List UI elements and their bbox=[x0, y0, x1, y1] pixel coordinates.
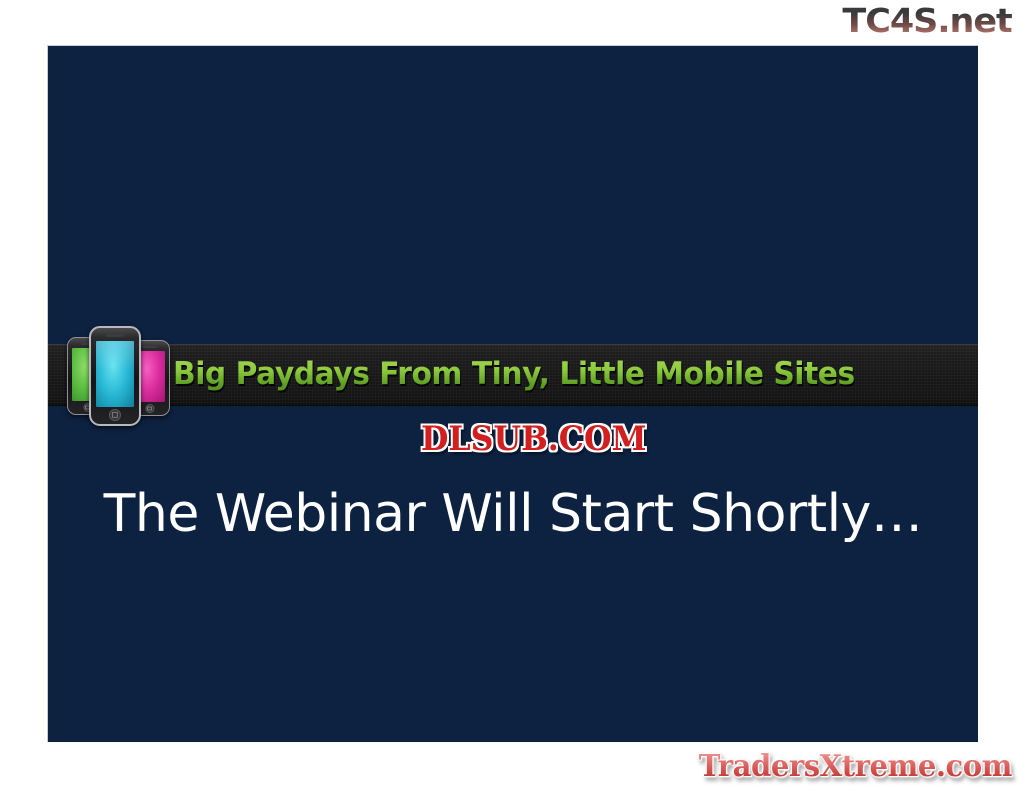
phone-speaker-icon bbox=[106, 334, 124, 337]
mobile-phones-graphic bbox=[61, 324, 189, 428]
tc4s-logo: TC4S.net bbox=[843, 2, 1012, 40]
dlsub-watermark: DLSUB.COM bbox=[421, 419, 647, 459]
promo-banner-title: Big Paydays From Tiny, Little Mobile Sit… bbox=[173, 352, 855, 396]
phone-home-button-icon bbox=[109, 409, 121, 421]
phone-speaker-icon bbox=[143, 346, 157, 348]
presentation-slide: Big Paydays From Tiny, Little Mobile Sit… bbox=[47, 45, 978, 742]
phone-cyan-icon bbox=[89, 326, 141, 426]
phone-home-button-icon bbox=[145, 404, 154, 413]
slide-headline: The Webinar Will Start Shortly… bbox=[48, 483, 978, 545]
page-canvas: TC4S.net Big Paydays From Tiny, Little M… bbox=[0, 0, 1024, 791]
phone-screen bbox=[96, 341, 134, 407]
tradersxtreme-watermark: TradersXtreme.com bbox=[699, 749, 1012, 785]
